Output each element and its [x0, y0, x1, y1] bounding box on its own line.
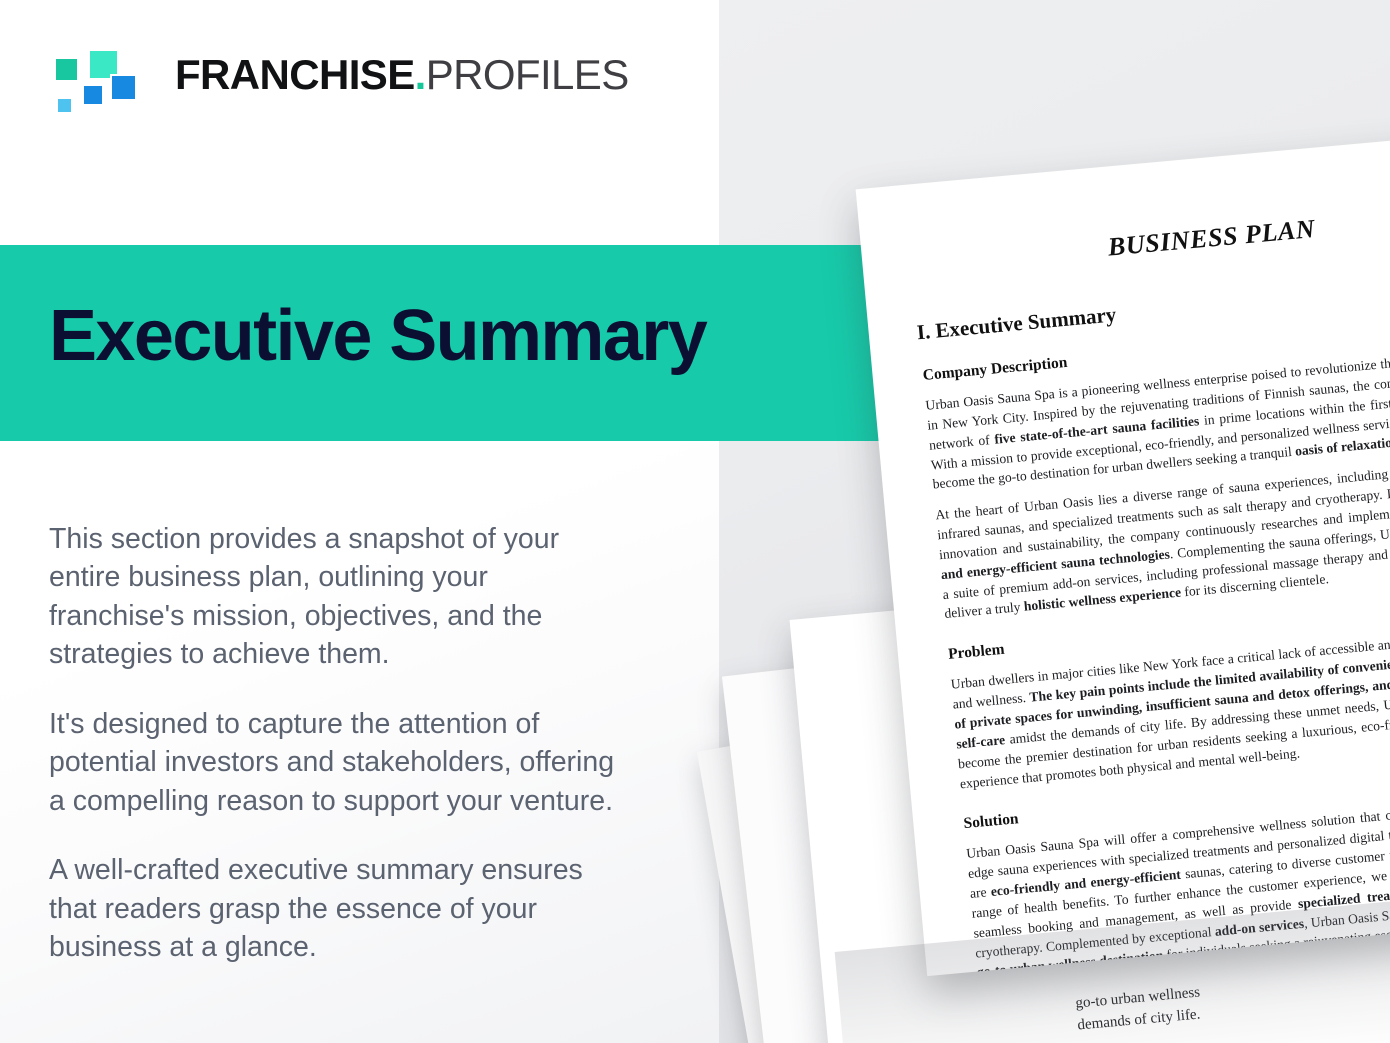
body-paragraph-3: A well-crafted executive summary ensures… [49, 851, 629, 966]
brand-wordmark: FRANCHISE.PROFILES [131, 54, 629, 96]
brand-name-dot: . [415, 51, 426, 98]
document-sheet-middle-text: go-to urban wellness demands of city lif… [1075, 956, 1390, 1037]
document-stack-image: go-to urban wellness demands of city lif… [690, 120, 1390, 1043]
brand-logo[interactable]: FRANCHISE.PROFILES [47, 44, 629, 106]
logo-square-blue-right-icon [110, 74, 137, 101]
body-paragraph-2: It's designed to capture the attention o… [49, 705, 629, 820]
logo-square-teal-dark-icon [54, 57, 79, 82]
body-paragraph-1: This section provides a snapshot of your… [49, 520, 629, 674]
document-sheet-front: BUSINESS PLAN I. Executive Summary Compa… [856, 126, 1390, 976]
page-title: Executive Summary [49, 300, 706, 372]
logo-square-blue-mid-icon [82, 84, 104, 106]
slide-root: FRANCHISE.PROFILES Executive Summary Thi… [0, 0, 1390, 1043]
underlying-text-line-b: demands of city life. [1077, 1006, 1201, 1033]
logo-mark-squares-icon [47, 49, 109, 101]
logo-square-blue-light-icon [56, 97, 73, 114]
body-copy: This section provides a snapshot of your… [49, 520, 629, 967]
brand-name-bold: FRANCHISE [175, 51, 415, 98]
document-title: BUSINESS PLAN [903, 195, 1390, 281]
brand-name-thin: PROFILES [426, 51, 629, 98]
